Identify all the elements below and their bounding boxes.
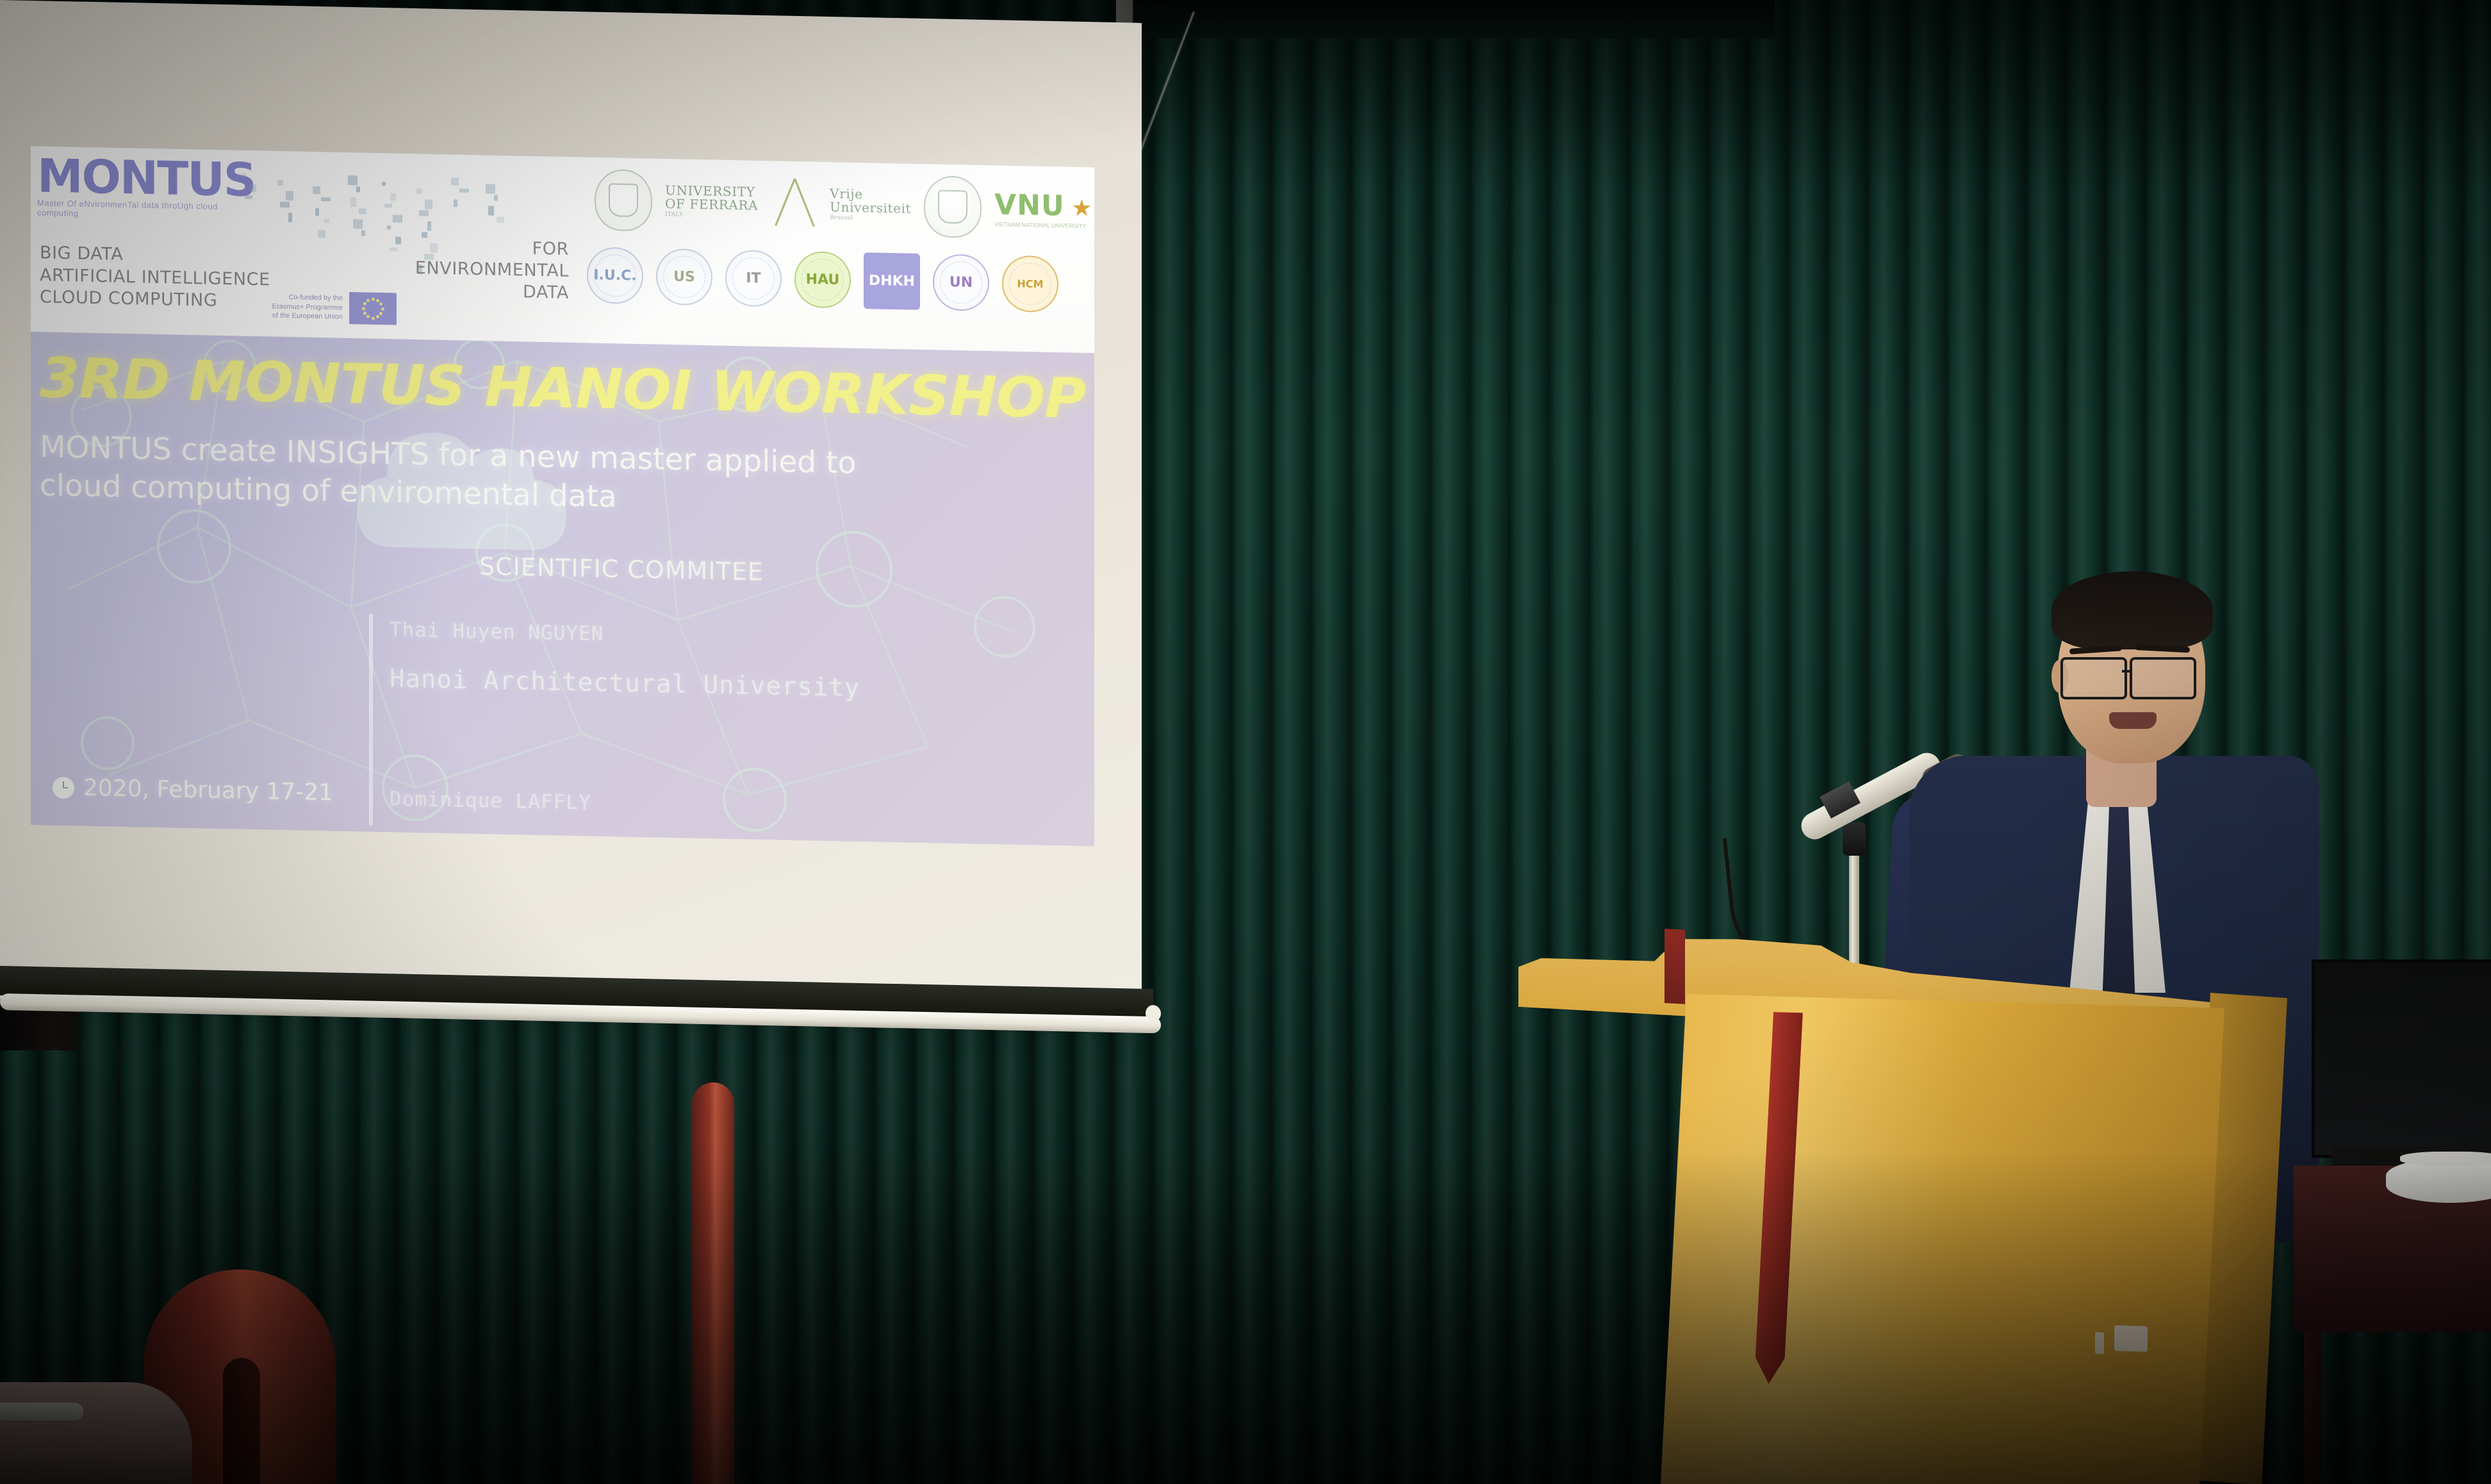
seal-it-glyph: IT bbox=[746, 270, 760, 286]
pixel-block bbox=[245, 195, 252, 199]
projected-slide: MONTUS Master Of eNvironmenTal data thro… bbox=[31, 146, 1094, 846]
seal-hcm-icon: HCM bbox=[1002, 255, 1058, 313]
eu-star bbox=[379, 302, 382, 306]
seal-hau-glyph: HAU bbox=[806, 272, 840, 288]
screen-bar-cap bbox=[1146, 1005, 1161, 1022]
presentation-scene: MONTUS Master Of eNvironmenTal data thro… bbox=[0, 0, 2491, 1484]
pixel-block bbox=[286, 191, 293, 200]
pixel-block bbox=[321, 197, 331, 201]
pixel-block bbox=[488, 206, 494, 215]
pixel-block bbox=[251, 184, 256, 192]
slide-keywords: BIG DATA ARTIFICIAL INTELLIGENCE CLOUD C… bbox=[40, 242, 270, 313]
partner-logos-bottom-row: I.U.C. US IT HAU DHKH UN HCM bbox=[587, 247, 1058, 313]
vub-mark-icon bbox=[771, 173, 817, 234]
eu-flag-icon bbox=[349, 292, 397, 325]
seal-dhkh-glyph: DHKH bbox=[869, 273, 915, 289]
pixel-block bbox=[384, 204, 392, 208]
pixel-block bbox=[242, 174, 246, 177]
for-environmental-data: FOR ENVIRONMENTAL DATA bbox=[377, 235, 569, 304]
pixel-block bbox=[419, 210, 429, 216]
vub-logo-text: Vrije Universiteit Brussel bbox=[830, 187, 911, 223]
vnu-sub: VIETNAM NATIONAL UNIVERSITY bbox=[994, 221, 1092, 229]
lens-right bbox=[2130, 657, 2196, 699]
seal-iuc-glyph: I.U.C. bbox=[593, 267, 636, 284]
pixel-block bbox=[387, 225, 391, 229]
data-label: DATA bbox=[377, 279, 569, 304]
eu-star bbox=[362, 307, 365, 310]
seal-un-glyph: UN bbox=[950, 274, 973, 291]
vnu-crest-icon bbox=[924, 175, 982, 238]
pixel-block bbox=[348, 175, 358, 185]
montus-tagline: Master Of eNvironmenTal data throUgh clo… bbox=[37, 198, 229, 221]
pixel-block bbox=[454, 199, 457, 207]
pixel-block bbox=[353, 219, 363, 229]
ferrara-sub: ITALY bbox=[665, 212, 758, 220]
vnu-wordmark: VNU bbox=[994, 188, 1065, 222]
eyeglasses-icon bbox=[2060, 657, 2205, 697]
eu-star bbox=[366, 298, 370, 302]
vnu-logo-text: VNU ★ VIETNAM NATIONAL UNIVERSITY bbox=[994, 188, 1092, 229]
eu-star bbox=[363, 311, 366, 314]
pixel-block bbox=[390, 193, 396, 200]
montus-wordmark: MONTUS bbox=[37, 155, 229, 200]
eu-star bbox=[381, 307, 384, 310]
pixel-block bbox=[416, 188, 422, 194]
ferrara-line2: OF FERRARA bbox=[665, 196, 758, 213]
pixel-block bbox=[280, 202, 290, 208]
seal-hcm-glyph: HCM bbox=[1017, 277, 1043, 290]
eu-star bbox=[376, 298, 379, 302]
podium-top-stripe bbox=[1665, 929, 1685, 1004]
vnu-star-icon: ★ bbox=[1071, 194, 1092, 221]
presenter-name: Thai Huyen NGUYEN bbox=[390, 618, 604, 646]
mouth bbox=[2109, 712, 2157, 729]
eu-star bbox=[363, 302, 366, 305]
seal-us-icon: US bbox=[656, 249, 712, 306]
pixel-block bbox=[350, 197, 356, 207]
keyword-cloud: CLOUD COMPUTING bbox=[40, 286, 270, 313]
seal-hau-icon: HAU bbox=[794, 251, 851, 309]
second-committee-name: Dominique LAFFLY bbox=[390, 787, 591, 814]
scientific-committee-label: SCIENTIFIC COMMITEE bbox=[479, 552, 764, 586]
eu-star bbox=[372, 316, 375, 320]
curtain-bottom-shadow bbox=[0, 1151, 2491, 1484]
slide-header-band: MONTUS Master Of eNvironmenTal data thro… bbox=[31, 146, 1094, 353]
microphone-joint[interactable] bbox=[1843, 822, 1866, 856]
pixel-block bbox=[486, 184, 495, 193]
clock-icon bbox=[53, 776, 74, 799]
pixel-block bbox=[313, 186, 320, 194]
projection-screen: MONTUS Master Of eNvironmenTal data thro… bbox=[0, 0, 1147, 1076]
pixel-block bbox=[393, 215, 402, 222]
glasses-bridge bbox=[2122, 670, 2131, 673]
seal-it-icon: IT bbox=[725, 250, 782, 307]
pixel-block bbox=[494, 195, 498, 201]
pixel-block bbox=[361, 230, 365, 236]
pixel-block bbox=[382, 182, 386, 186]
pixel-block bbox=[277, 180, 283, 186]
eu-funding-text: Co-funded by the Erasmus+ Programme of t… bbox=[265, 292, 343, 322]
montus-logo: MONTUS Master Of eNvironmenTal data thro… bbox=[37, 155, 229, 216]
pixel-block bbox=[318, 230, 325, 238]
workshop-date: 2020, February 17-21 bbox=[83, 775, 333, 806]
eu-star bbox=[372, 297, 375, 300]
partner-logos-top-row: UNIVERSITY OF FERRARA ITALY Vrije Univer… bbox=[595, 169, 1092, 241]
vub-sub: Brussel bbox=[830, 215, 911, 223]
pixel-block bbox=[356, 186, 360, 192]
eu-star bbox=[379, 312, 382, 315]
workshop-date-row: 2020, February 17-21 bbox=[53, 774, 333, 806]
pixel-block bbox=[497, 217, 504, 223]
eu-star bbox=[376, 315, 379, 318]
flat-screen-monitor bbox=[2312, 959, 2491, 1158]
hair bbox=[2051, 571, 2213, 649]
pixel-block bbox=[451, 177, 459, 185]
pixel-block bbox=[288, 213, 292, 222]
vertical-divider bbox=[369, 614, 373, 826]
pixel-block bbox=[315, 208, 319, 216]
pixel-block bbox=[427, 221, 431, 231]
slide-body: 3RD MONTUS HANOI WORKSHOP 2020 MONTUS cr… bbox=[31, 332, 1094, 846]
lens-left bbox=[2060, 657, 2127, 699]
ferrara-crest-icon bbox=[595, 169, 652, 232]
pixel-block bbox=[459, 188, 469, 192]
seal-us-glyph: US bbox=[673, 269, 695, 286]
seal-iuc-icon: I.U.C. bbox=[587, 247, 643, 304]
eu-star bbox=[366, 315, 370, 318]
pixel-block bbox=[425, 199, 432, 209]
pixel-block bbox=[324, 219, 329, 223]
eu-funding-block: Co-funded by the Erasmus+ Programme of t… bbox=[265, 290, 397, 325]
seal-dhkh-icon: DHKH bbox=[864, 252, 920, 310]
seal-un-icon: UN bbox=[933, 254, 989, 311]
ferrara-logo-text: UNIVERSITY OF FERRARA ITALY bbox=[665, 184, 758, 220]
pixel-block bbox=[359, 208, 366, 214]
vub-line2: Universiteit bbox=[830, 199, 911, 216]
